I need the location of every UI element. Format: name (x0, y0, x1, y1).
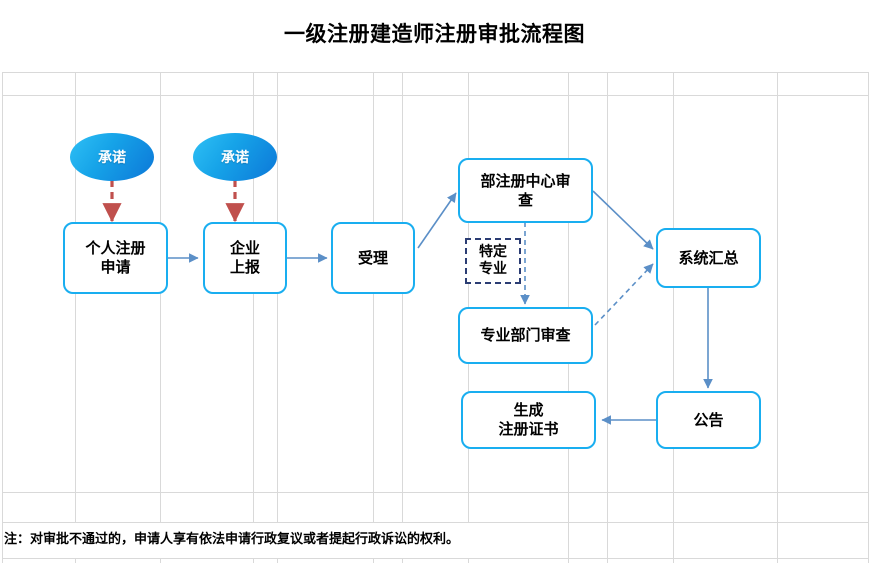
node-ministry-registration-center-review[interactable]: 部注册中心审 查 (458, 158, 593, 223)
node-generate-certificate-line2: 注册证书 (498, 420, 558, 439)
node-enterprise-report-line2: 上报 (230, 258, 260, 277)
node-specific-major[interactable]: 特定 专业 (465, 238, 521, 284)
node-system-summary[interactable]: 系统汇总 (656, 228, 761, 288)
node-system-summary-label: 系统汇总 (678, 249, 738, 268)
node-specific-major-line2: 专业 (479, 261, 507, 279)
node-personal-application[interactable]: 个人注册 申请 (63, 222, 168, 294)
node-acceptance[interactable]: 受理 (331, 222, 415, 294)
node-announcement-label: 公告 (693, 411, 723, 430)
node-professional-department-review[interactable]: 专业部门审查 (458, 307, 593, 364)
promise-ellipse-1-label: 承诺 (98, 147, 126, 167)
node-generate-certificate-line1: 生成 (498, 401, 558, 420)
node-generate-certificate[interactable]: 生成 注册证书 (461, 391, 596, 449)
node-announcement[interactable]: 公告 (656, 391, 761, 449)
promise-ellipse-1[interactable]: 承诺 (70, 133, 154, 181)
node-ministry-line1: 部注册中心审 (480, 172, 570, 191)
node-professional-department-review-label: 专业部门审查 (480, 326, 570, 345)
node-enterprise-report-line1: 企业 (230, 239, 260, 258)
promise-ellipse-2[interactable]: 承诺 (193, 133, 277, 181)
footnote-text: 注：对审批不通过的，申请人享有依法申请行政复议或者提起行政诉讼的权利。 (4, 528, 459, 547)
node-personal-application-line2: 申请 (85, 258, 145, 277)
node-personal-application-line1: 个人注册 (85, 239, 145, 258)
node-enterprise-report[interactable]: 企业 上报 (203, 222, 287, 294)
flowchart-page: 一级注册建造师注册审批流程图 承诺 (0, 0, 869, 563)
node-specific-major-line1: 特定 (479, 244, 507, 262)
page-title: 一级注册建造师注册审批流程图 (0, 18, 869, 48)
node-ministry-line2: 查 (480, 191, 570, 210)
promise-ellipse-2-label: 承诺 (221, 147, 249, 167)
node-acceptance-label: 受理 (358, 249, 388, 268)
